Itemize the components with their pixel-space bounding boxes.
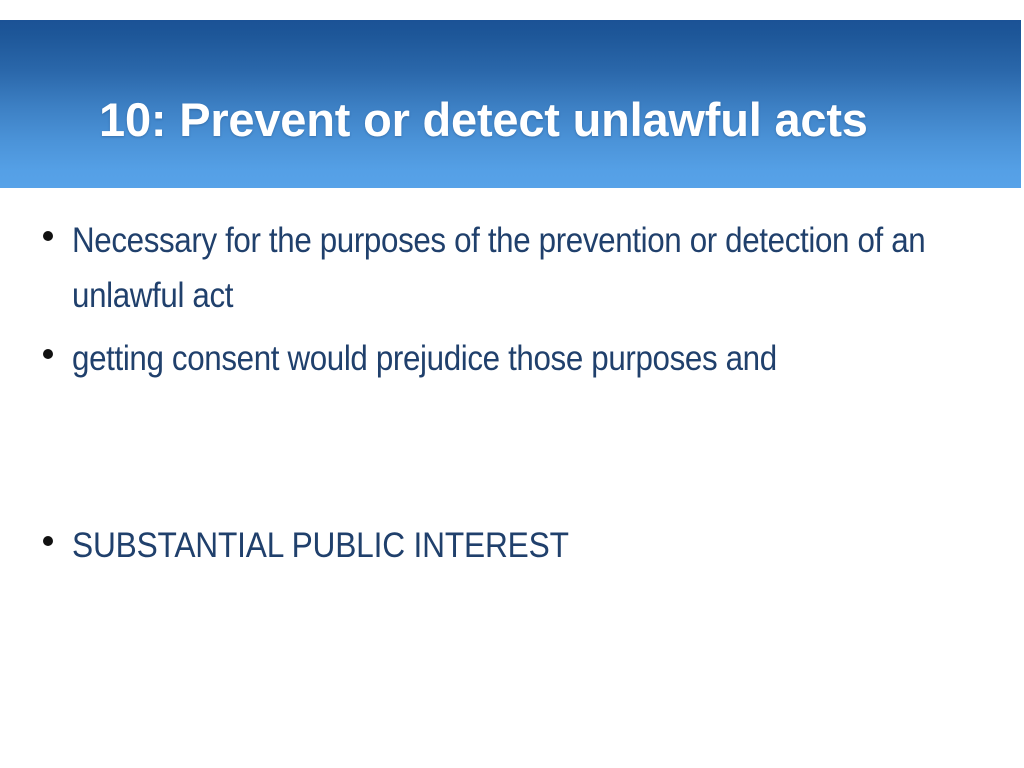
bullet-list-spacer (0, 449, 1024, 504)
bullet-list-item: SUBSTANTIAL PUBLIC INTEREST (0, 518, 1024, 573)
bullet-list-item: Necessary for the purposes of the preven… (0, 213, 1024, 323)
bullet-item-text: SUBSTANTIAL PUBLIC INTEREST (72, 518, 986, 573)
bullet-dot-icon (43, 536, 53, 546)
bullet-dot-icon (43, 349, 53, 359)
slide-title-banner: 10: Prevent or detect unlawful acts (0, 20, 1021, 188)
bullet-dot-icon (43, 231, 53, 241)
bullet-item-text: getting consent would prejudice those pu… (72, 331, 976, 386)
presentation-slide: 10: Prevent or detect unlawful acts Nece… (0, 0, 1024, 768)
slide-body-content: Necessary for the purposes of the preven… (0, 196, 1024, 768)
bullet-list-item: getting consent would prejudice those pu… (0, 331, 1024, 386)
bullet-item-text: Necessary for the purposes of the preven… (72, 213, 976, 323)
page-title: 10: Prevent or detect unlawful acts (99, 91, 979, 149)
